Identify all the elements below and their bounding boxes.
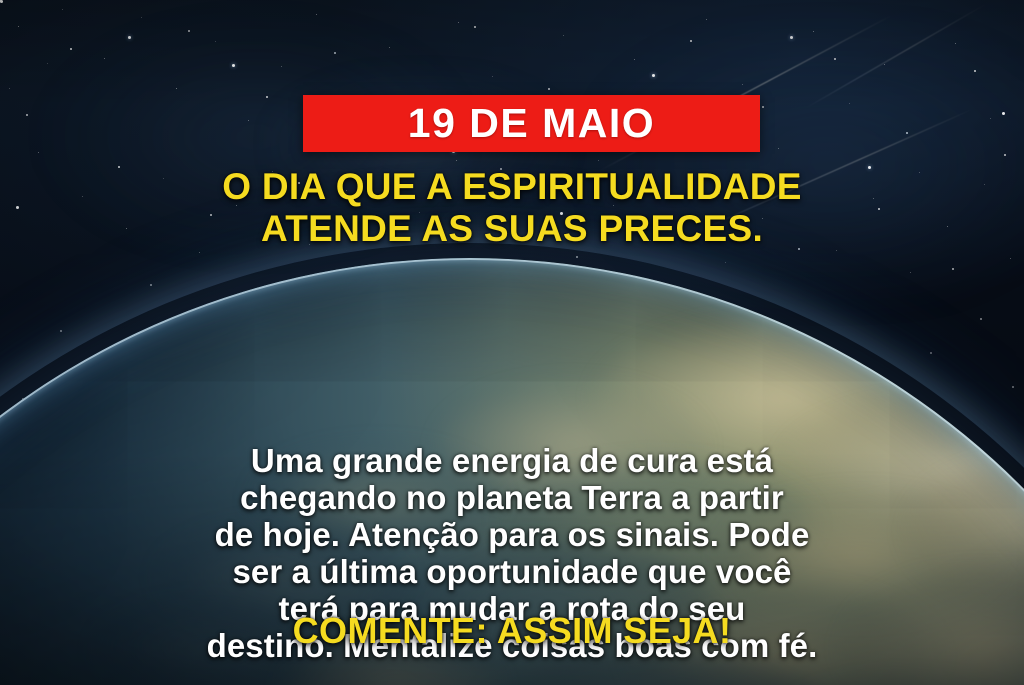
headline-line-2: ATENDE AS SUAS PRECES. xyxy=(0,208,1024,250)
headline-line-1: O DIA QUE A ESPIRITUALIDADE xyxy=(0,166,1024,208)
body-line-3: de hoje. Atenção para os sinais. Pode xyxy=(0,517,1024,554)
headline: O DIA QUE A ESPIRITUALIDADE ATENDE AS SU… xyxy=(0,166,1024,250)
body-line-4: ser a última oportunidade que você xyxy=(0,554,1024,591)
date-banner-text: 19 DE MAIO xyxy=(408,103,655,144)
body-line-2: chegando no planeta Terra a partir xyxy=(0,480,1024,517)
call-to-action-text: COMENTE: ASSIM SEJA! xyxy=(0,611,1024,651)
date-banner: 19 DE MAIO xyxy=(303,95,760,152)
social-media-poster: 19 DE MAIO O DIA QUE A ESPIRITUALIDADE A… xyxy=(0,0,1024,685)
body-line-1: Uma grande energia de cura está xyxy=(0,443,1024,480)
poster-content: 19 DE MAIO O DIA QUE A ESPIRITUALIDADE A… xyxy=(0,0,1024,685)
